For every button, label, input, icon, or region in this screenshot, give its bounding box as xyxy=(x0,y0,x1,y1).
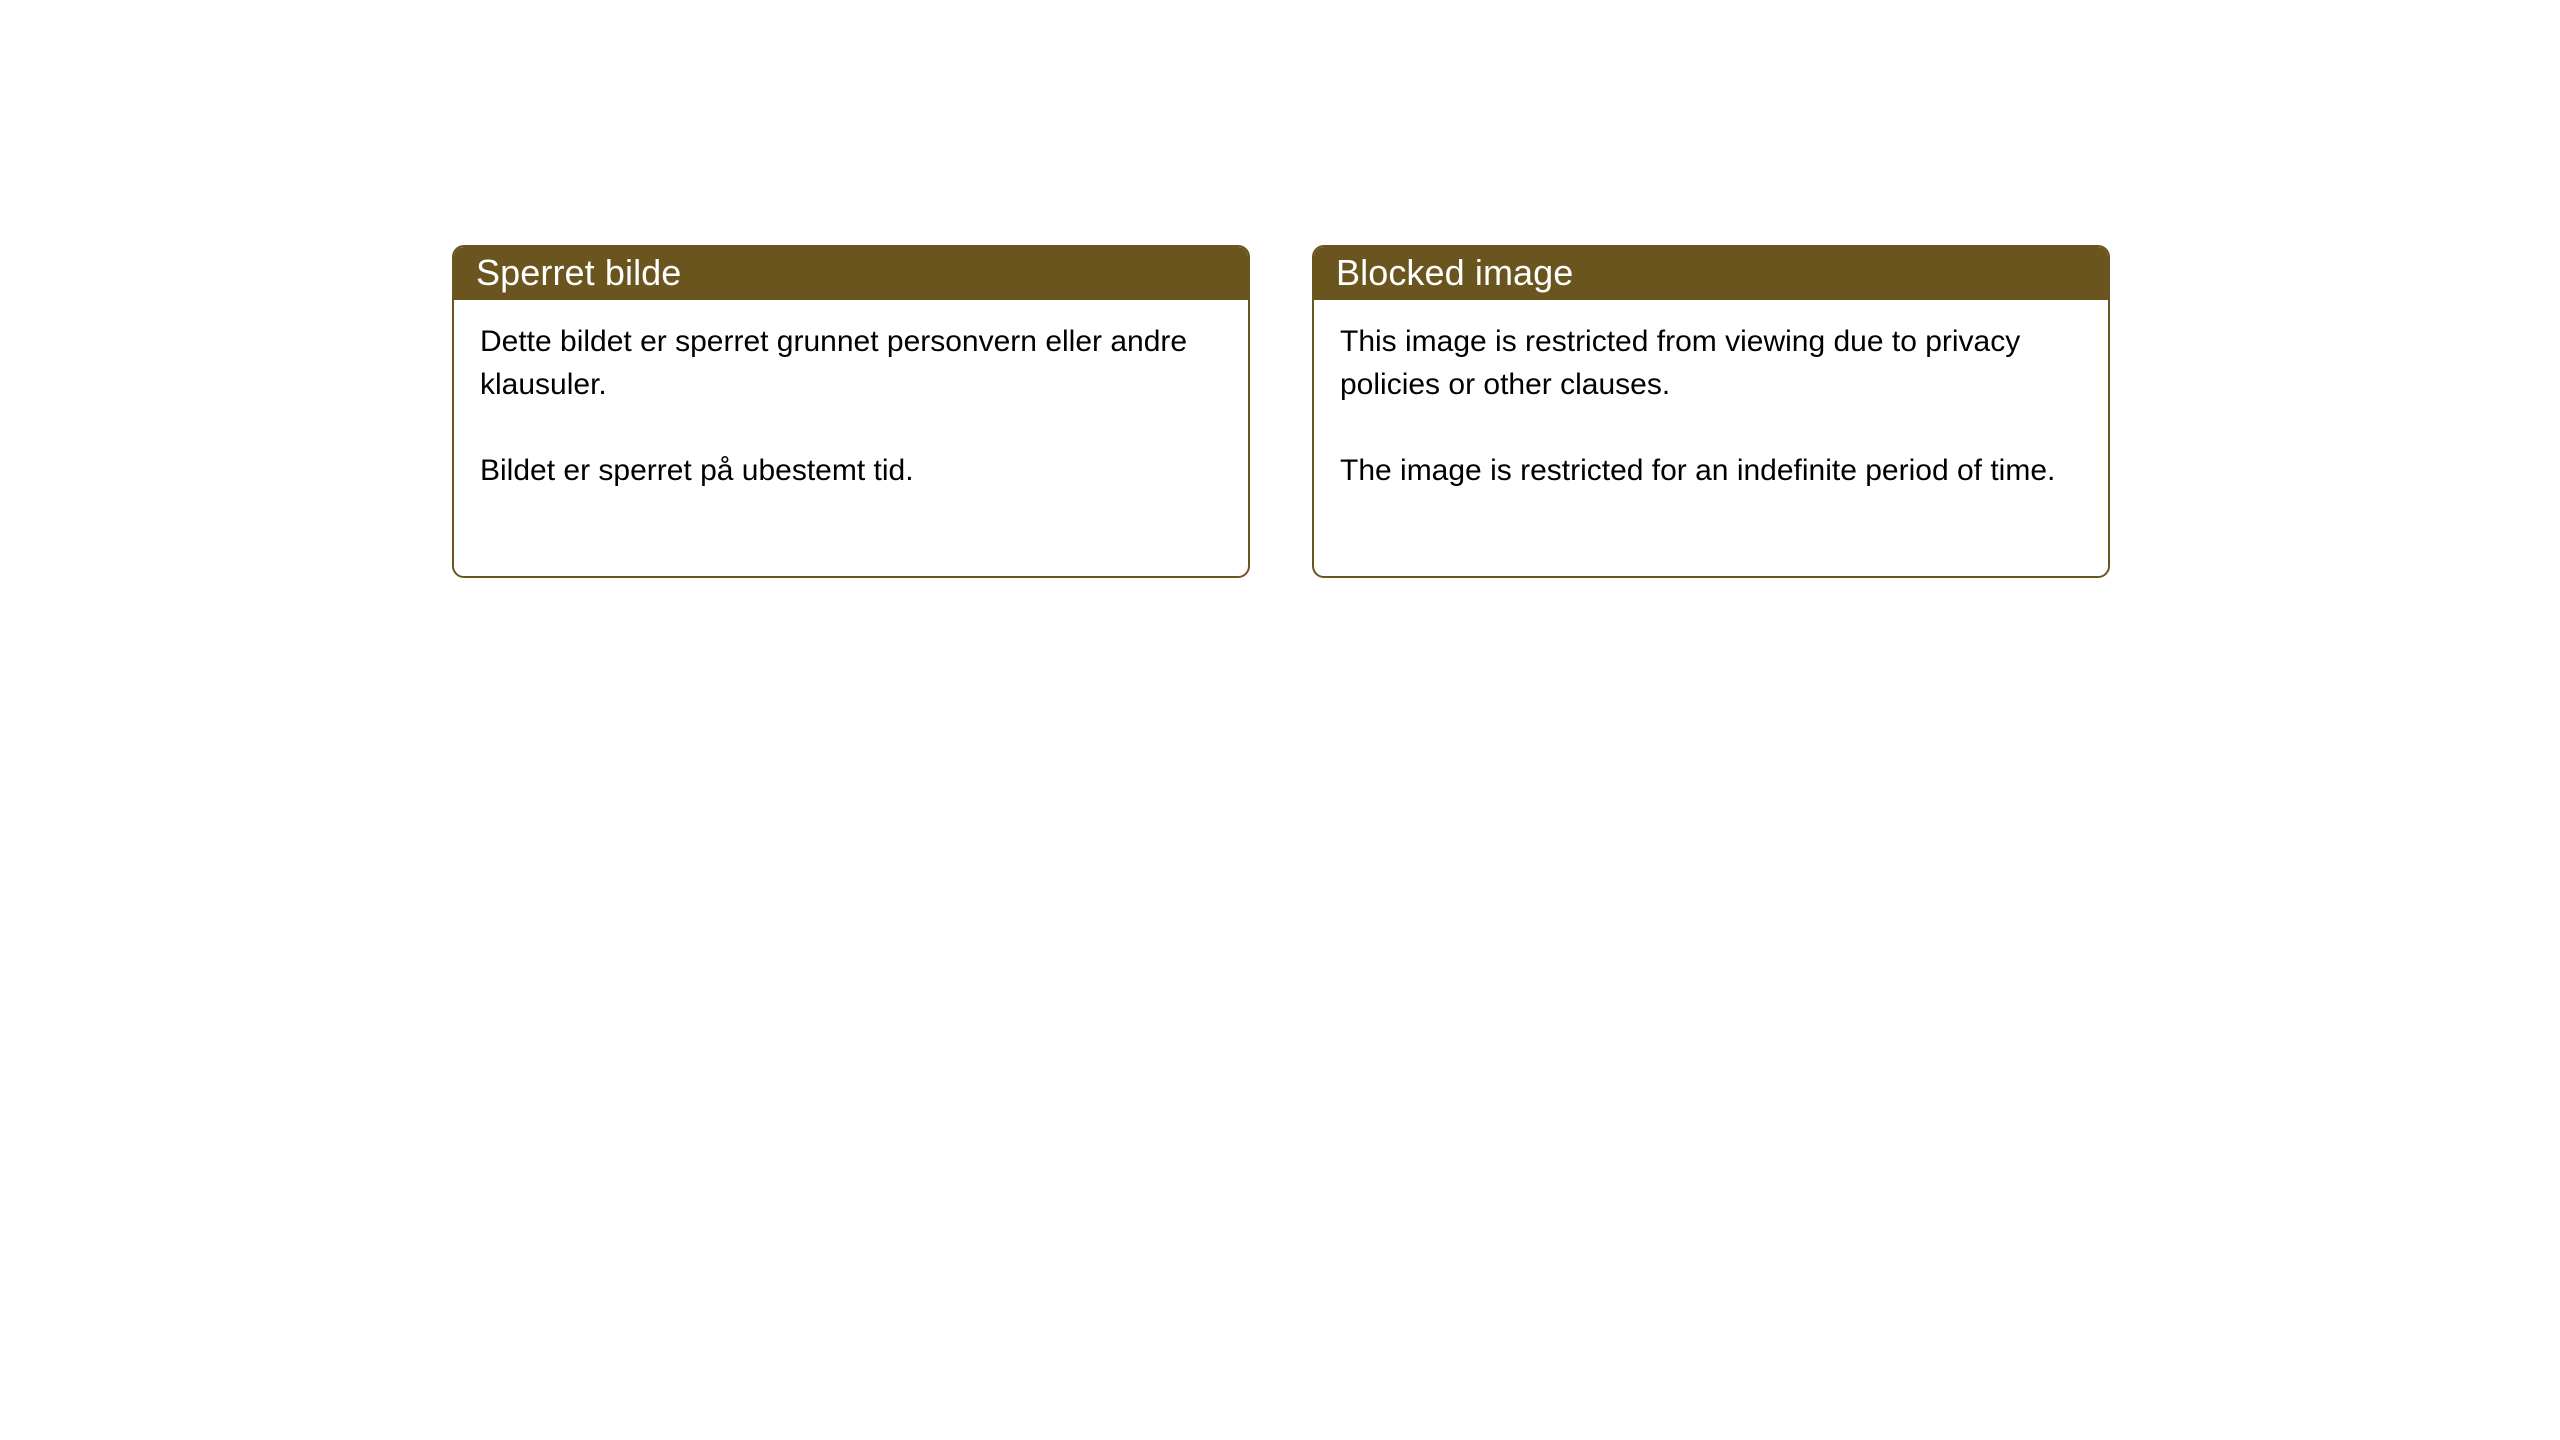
notice-card-header-norwegian: Sperret bilde xyxy=(452,245,1250,300)
page-canvas: Sperret bilde Dette bildet er sperret gr… xyxy=(0,0,2560,1440)
notice-card-title-norwegian: Sperret bilde xyxy=(476,253,681,293)
notice-card-norwegian: Sperret bilde Dette bildet er sperret gr… xyxy=(452,245,1250,578)
notice-card-header-english: Blocked image xyxy=(1312,245,2110,300)
notice-card-english: Blocked image This image is restricted f… xyxy=(1312,245,2110,578)
notice-card-title-english: Blocked image xyxy=(1336,253,1573,293)
notice-paragraph-reason-english: This image is restricted from viewing du… xyxy=(1340,320,2060,406)
notice-paragraph-duration-english: The image is restricted for an indefinit… xyxy=(1340,449,2060,492)
notice-paragraph-duration-norwegian: Bildet er sperret på ubestemt tid. xyxy=(480,449,1200,492)
notice-card-body-norwegian: Dette bildet er sperret grunnet personve… xyxy=(454,300,1248,576)
notice-card-body-english: This image is restricted from viewing du… xyxy=(1314,300,2108,576)
notice-paragraph-reason-norwegian: Dette bildet er sperret grunnet personve… xyxy=(480,320,1200,406)
blocked-image-notice-group: Sperret bilde Dette bildet er sperret gr… xyxy=(452,245,2110,578)
